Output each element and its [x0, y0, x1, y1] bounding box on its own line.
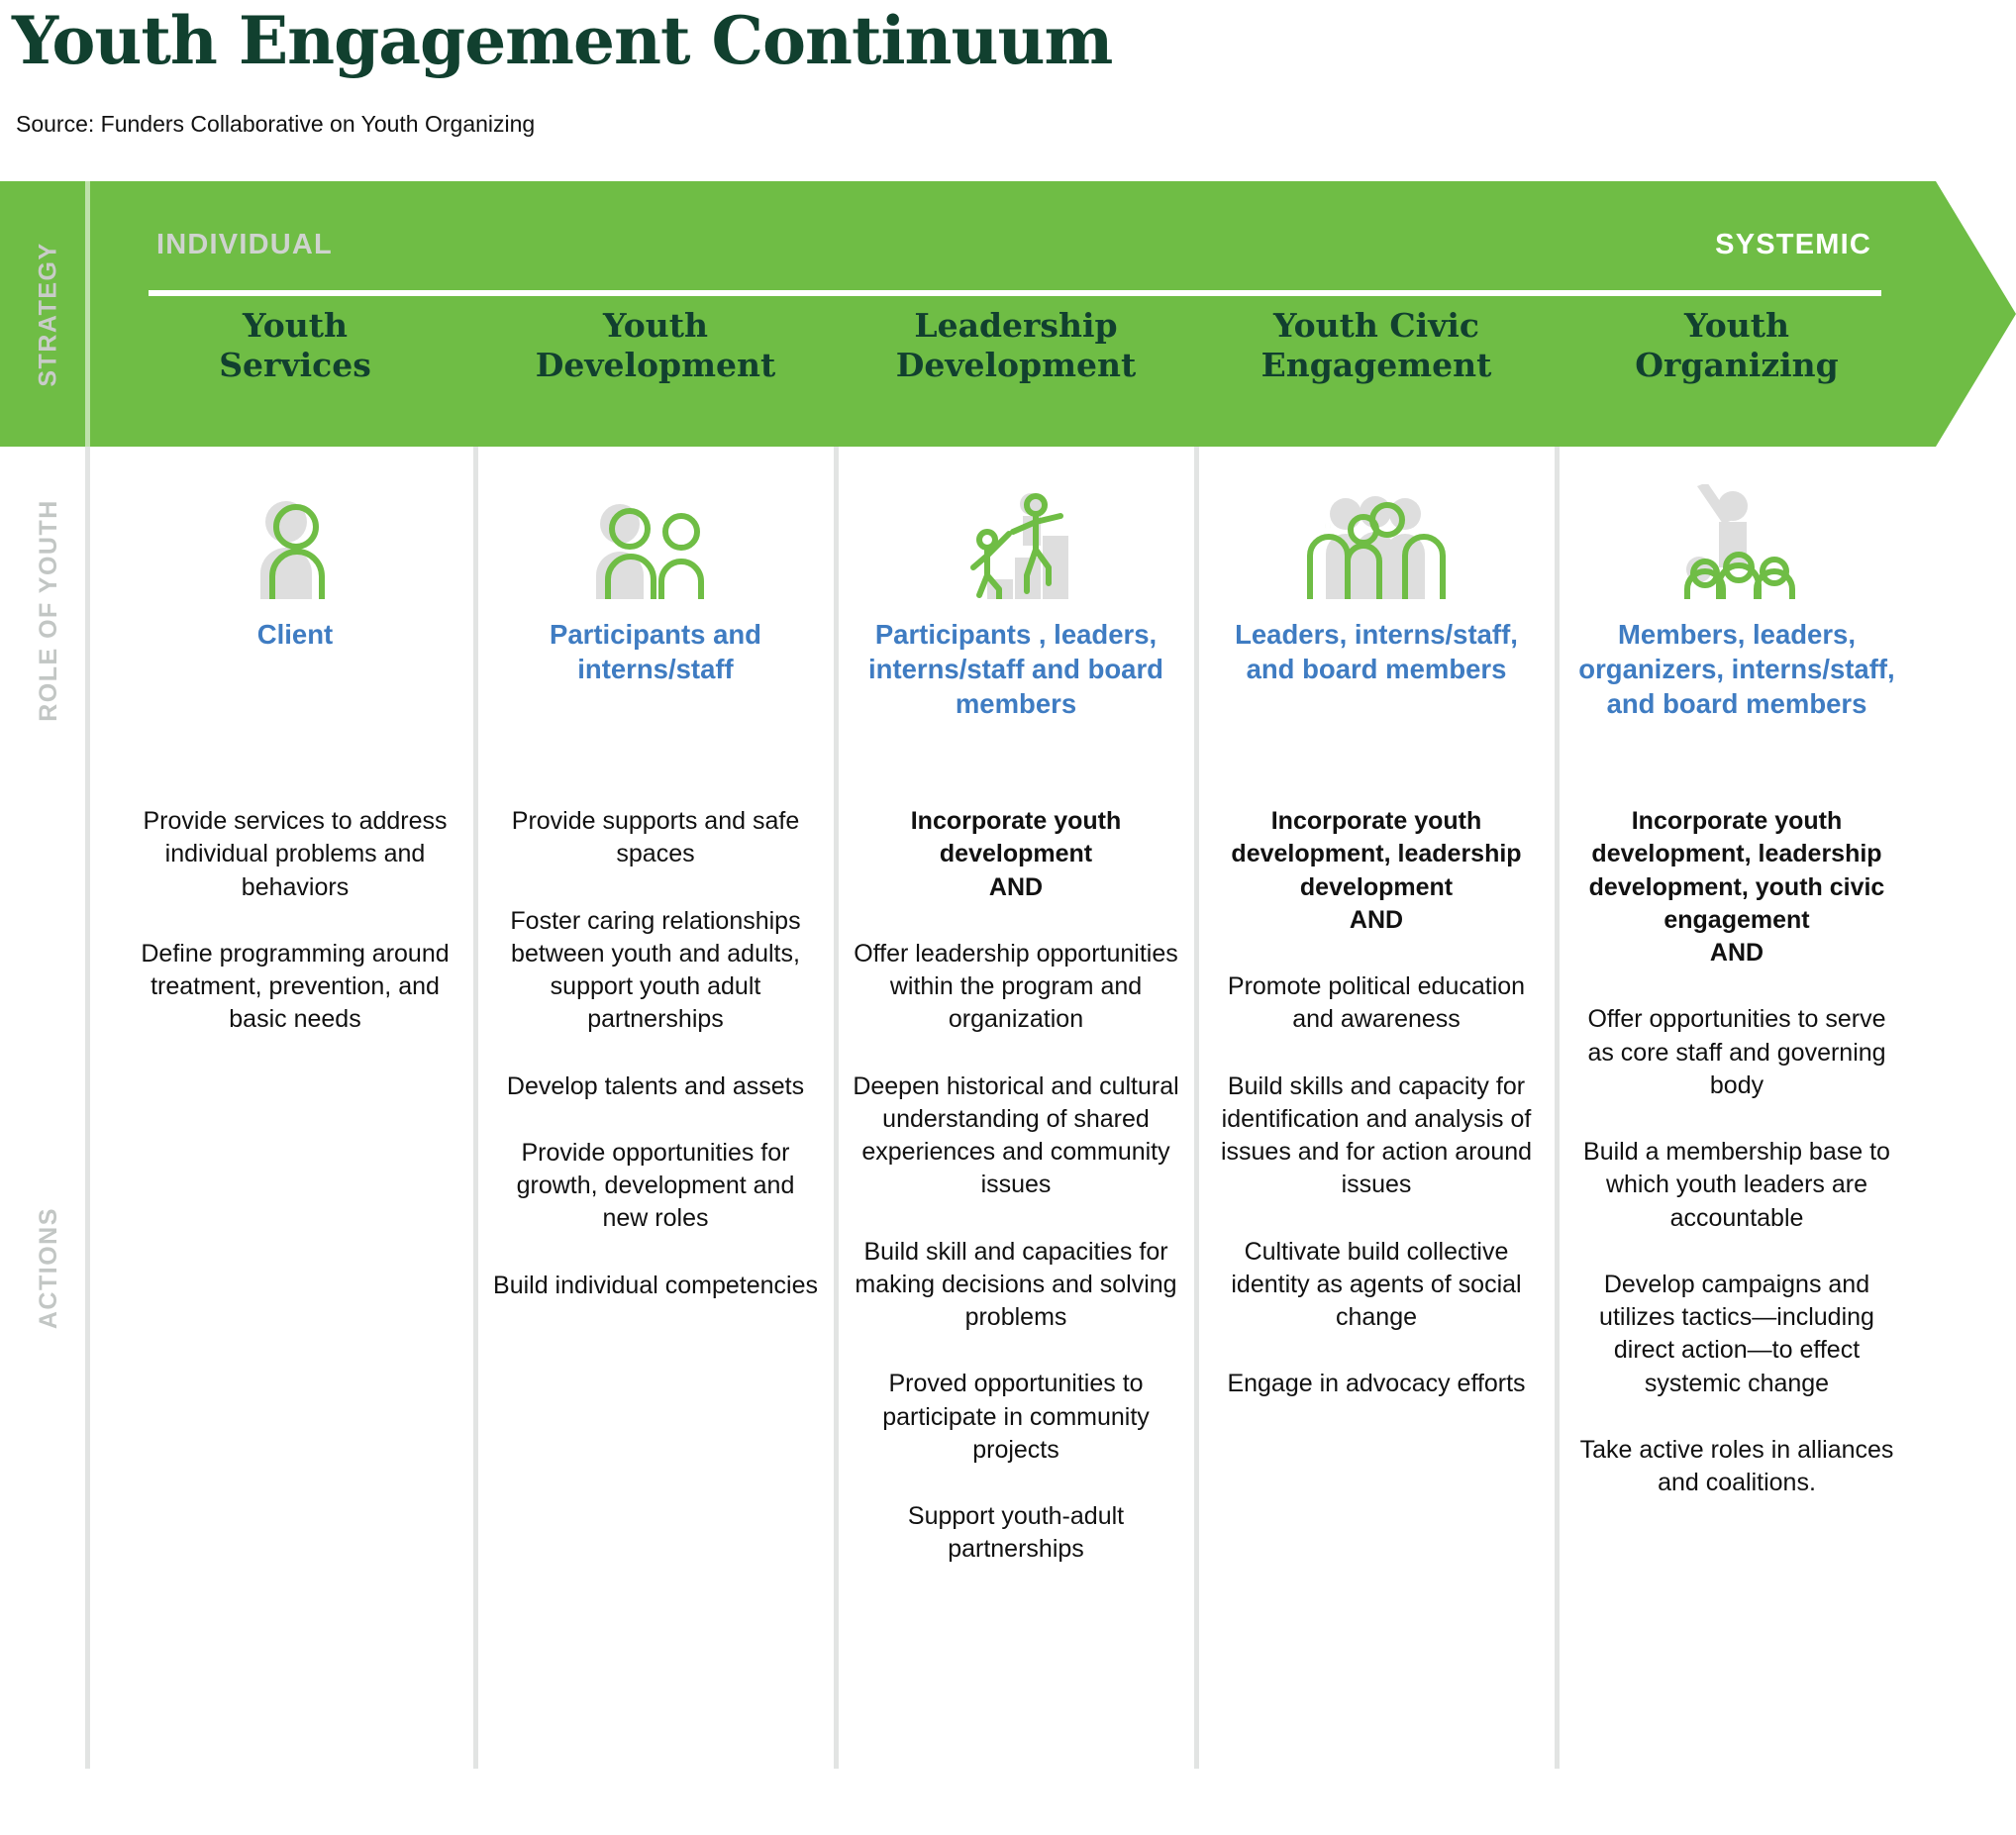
action-item: Cultivate build collective identity as a… [1212, 1236, 1541, 1335]
strategy-header-1: Youth Development [475, 306, 836, 386]
column-leadership-development: Participants , leaders, interns/staff an… [836, 447, 1196, 1600]
strategy-header-2: Leadership Development [836, 306, 1196, 386]
column-youth-development: Participants and interns/staff Provide s… [475, 447, 836, 1600]
action-item: Offer leadership opportunities within th… [852, 938, 1180, 1037]
person-helping-climb-icon [852, 447, 1180, 605]
role-label-0: Client [131, 617, 459, 805]
action-item: Provide opportunities for growth, develo… [491, 1137, 820, 1236]
role-label-2: Participants , leaders, interns/staff an… [852, 617, 1180, 805]
strategy-header-4: Youth Organizing [1557, 306, 1917, 386]
action-item: Build skills and capacity for identifica… [1212, 1070, 1541, 1202]
action-item: Offer opportunities to serve as core sta… [1572, 1003, 1901, 1102]
column-youth-organizing: Members, leaders, organizers, interns/st… [1557, 447, 1917, 1600]
action-item: Build skill and capacities for making de… [852, 1236, 1180, 1335]
actions-list-4: Incorporate youth development, leadershi… [1572, 805, 1901, 1499]
body-left-divider [85, 447, 90, 1769]
action-item: Provide services to address individual p… [131, 805, 459, 904]
pole-label-individual: INDIVIDUAL [156, 229, 333, 261]
action-item: Incorporate youth development, leadershi… [1212, 805, 1541, 937]
row-label-role-of-youth: ROLE OF YOUTH [25, 447, 72, 773]
action-item: Proved opportunities to participate in c… [852, 1368, 1180, 1467]
action-item: Build individual competencies [491, 1270, 820, 1302]
column-youth-civic-engagement: Leaders, interns/staff, and board member… [1196, 447, 1557, 1600]
action-item: Incorporate youth development, leadershi… [1572, 805, 1901, 969]
strategy-header-0: Youth Services [115, 306, 475, 386]
action-item: Provide supports and safe spaces [491, 805, 820, 871]
pole-rule-divider [149, 290, 1881, 296]
youth-engagement-continuum-infographic: Youth Engagement Continuum Source: Funde… [0, 0, 2016, 1835]
actions-list-2: Incorporate youth development AND Offer … [852, 805, 1180, 1567]
role-label-3: Leaders, interns/staff, and board member… [1212, 617, 1541, 805]
actions-list-0: Provide services to address individual p… [131, 805, 459, 1037]
two-people-icon [491, 447, 820, 605]
group-of-people-icon [1212, 447, 1541, 605]
strategy-header-3: Youth Civic Engagement [1196, 306, 1557, 386]
action-item: Take active roles in alliances and coali… [1572, 1434, 1901, 1500]
strategy-column-headers: Youth Services Youth Development Leaders… [115, 306, 1917, 386]
actions-list-3: Incorporate youth development, leadershi… [1212, 805, 1541, 1401]
action-item: Define programming around treatment, pre… [131, 938, 459, 1037]
row-label-strategy: STRATEGY [25, 181, 72, 447]
action-item: Incorporate youth development AND [852, 805, 1180, 904]
row-label-actions: ACTIONS [25, 773, 72, 1764]
action-item: Support youth-adult partnerships [852, 1500, 1180, 1567]
action-item: Build a membership base to which youth l… [1572, 1136, 1901, 1235]
actions-list-1: Provide supports and safe spaces Foster … [491, 805, 820, 1302]
role-label-1: Participants and interns/staff [491, 617, 820, 805]
row-label-strategy-text: STRATEGY [35, 242, 63, 386]
continuum-poles: INDIVIDUAL SYSTEMIC [149, 229, 1881, 284]
pole-label-systemic: SYSTEMIC [1715, 229, 1871, 261]
row-label-role-of-youth-text: ROLE OF YOUTH [35, 499, 63, 722]
action-item: Foster caring relationships between yout… [491, 905, 820, 1037]
raised-arm-crowd-icon [1572, 447, 1901, 605]
continuum-columns: Client Provide services to address indiv… [115, 447, 1917, 1600]
column-youth-services: Client Provide services to address indiv… [115, 447, 475, 1600]
action-item: Engage in advocacy efforts [1212, 1368, 1541, 1400]
source-attribution: Source: Funders Collaborative on Youth O… [16, 111, 535, 138]
strategy-band: STRATEGY INDIVIDUAL SYSTEMIC Youth Servi… [0, 181, 2016, 447]
action-item: Develop campaigns and utilizes tactics—i… [1572, 1269, 1901, 1400]
band-left-divider [85, 181, 90, 447]
action-item: Develop talents and assets [491, 1070, 820, 1103]
page-title: Youth Engagement Continuum [12, 2, 1112, 79]
arrow-head-icon [1936, 181, 2016, 447]
action-item: Deepen historical and cultural understan… [852, 1070, 1180, 1202]
row-label-actions-text: ACTIONS [32, 1208, 64, 1330]
continuum-body: ROLE OF YOUTH ACTIONS Client [0, 447, 2016, 1835]
role-label-4: Members, leaders, organizers, interns/st… [1572, 617, 1901, 805]
action-item: Promote political education and awarenes… [1212, 970, 1541, 1037]
single-person-icon [131, 447, 459, 605]
row-labels: ROLE OF YOUTH ACTIONS [25, 447, 72, 1774]
